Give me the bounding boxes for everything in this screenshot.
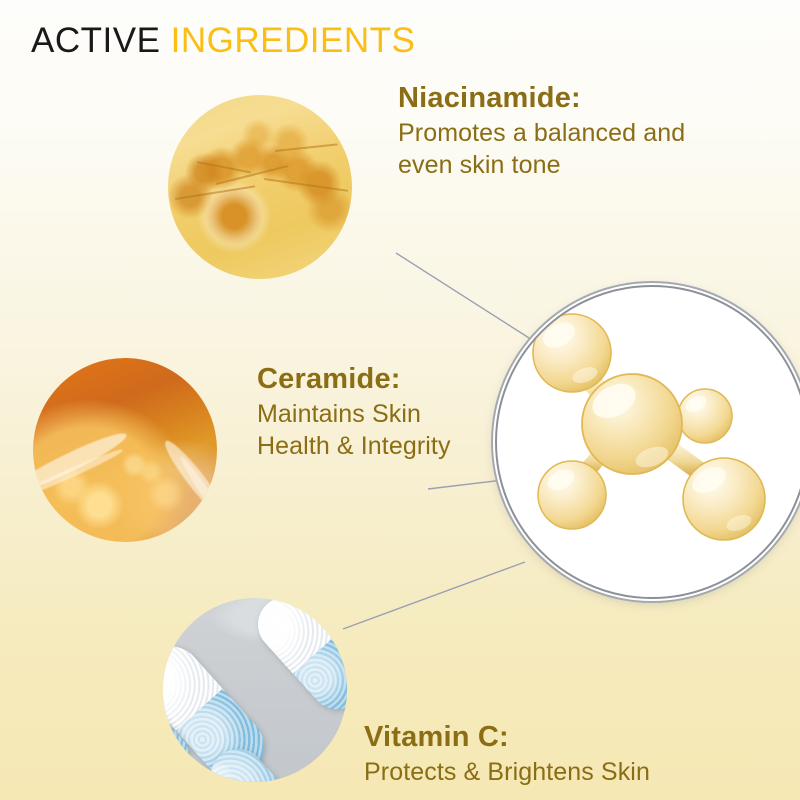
molecule-node-center (582, 374, 682, 474)
molecule-circle (495, 285, 800, 599)
description-line: Maintains Skin (257, 398, 451, 430)
ingredient-text-vitamin-c: Vitamin C: Protects & Brightens Skin (364, 721, 650, 788)
ingredient-heading-niacinamide: Niacinamide: (398, 82, 685, 114)
ingredient-image-vitamin-c (163, 598, 347, 782)
ingredient-description-niacinamide: Promotes a balanced and even skin tone (398, 117, 685, 181)
molecule-node-right (678, 389, 732, 443)
ingredient-text-niacinamide: Niacinamide: Promotes a balanced and eve… (398, 82, 685, 181)
ingredient-image-ceramide (33, 358, 217, 542)
description-line: Protects & Brightens Skin (364, 756, 650, 788)
description-line: Health & Integrity (257, 430, 451, 462)
molecule-node-bottom-right (683, 458, 765, 540)
ingredient-heading-vitamin-c: Vitamin C: (364, 721, 650, 753)
ingredient-image-niacinamide (168, 95, 352, 279)
ingredient-description-ceramide: Maintains Skin Health & Integrity (257, 398, 451, 462)
molecule-illustration (497, 287, 800, 597)
molecule-node-top-left (533, 314, 611, 392)
ingredient-description-vitamin-c: Protects & Brightens Skin (364, 756, 650, 788)
molecule-node-bottom-left (538, 461, 606, 529)
ingredient-heading-ceramide: Ceramide: (257, 363, 451, 395)
ingredient-text-ceramide: Ceramide: Maintains Skin Health & Integr… (257, 363, 451, 462)
infographic-poster: ACTIVE INGREDIENTS (0, 0, 800, 800)
description-line: even skin tone (398, 149, 685, 181)
description-line: Promotes a balanced and (398, 117, 685, 149)
